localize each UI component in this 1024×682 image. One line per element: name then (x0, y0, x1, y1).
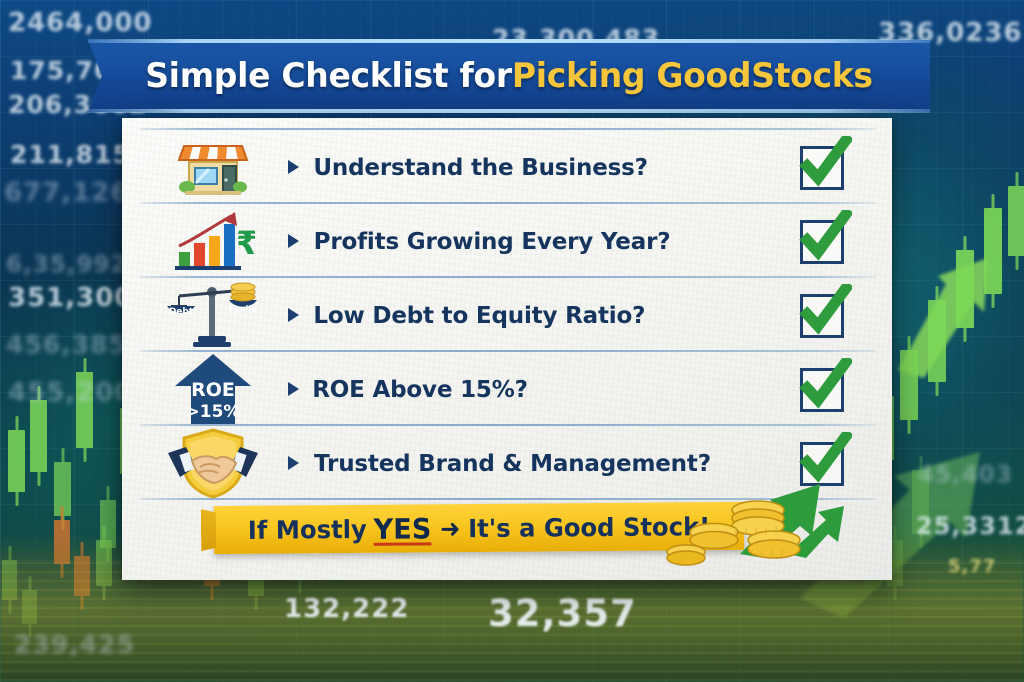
checkbox-roe-above-15[interactable] (796, 362, 850, 416)
row-divider-1 (140, 202, 876, 204)
checklist-row-roe-above-15[interactable]: ROE >15% ROE Above 15%? (138, 354, 878, 424)
background-number: 239,425 (14, 630, 135, 659)
check-icon (796, 136, 852, 192)
infographic-root: 2464,000175,700206,3662211,815677,1266,3… (0, 0, 1024, 682)
check-icon (796, 358, 852, 414)
roe-label: ROE (191, 379, 235, 401)
checklist-label: ROE Above 15%? (312, 375, 528, 403)
handshake-shield-icon (138, 428, 288, 498)
checklist-card: Understand the Business? (122, 118, 892, 580)
roe-threshold-label: >15% (186, 402, 241, 422)
checklist-row-profits-growing[interactable]: ₹ Profits Growing Every Year? (138, 206, 878, 276)
background-candlestick (956, 250, 974, 328)
checkbox-understand-business[interactable] (796, 140, 850, 194)
checklist-label: Trusted Brand & Management? (314, 449, 711, 477)
row-bullet-icon (288, 308, 299, 322)
background-candlestick (900, 350, 918, 420)
checklist-label: Low Debt to Equity Ratio? (313, 301, 645, 329)
background-number: 455,200 (8, 378, 133, 408)
storefront-icon (138, 132, 288, 202)
row-bullet-icon (288, 160, 299, 174)
background-candlestick (984, 208, 1002, 294)
growth-bar-chart-rupee-icon: ₹ (138, 206, 288, 276)
title-ribbon: Simple Checklist for Picking Good Stocks (88, 40, 930, 112)
conclusion-lead: If Mostly (248, 514, 367, 544)
page-title: Simple Checklist for Picking Good Stocks (101, 40, 918, 112)
background-number: 351,300 (8, 283, 133, 313)
row-divider-2 (140, 276, 876, 278)
footer-banner-row: If Mostly YES ➜ It's a Good Stock! (138, 500, 878, 562)
background-candlestick (8, 430, 25, 492)
checklist-row-low-debt-equity[interactable]: Debt Equity Low Debt to Equity Ratio? (138, 280, 878, 350)
checkbox-profits-growing[interactable] (796, 214, 850, 268)
checklist-row-understand-business[interactable]: Understand the Business? (138, 132, 878, 202)
conclusion-banner: If Mostly YES ➜ It's a Good Stock! (214, 502, 744, 554)
background-number: 45,403 (918, 462, 1013, 488)
conclusion-yes: YES (373, 512, 431, 545)
scale-right-label: Equity (229, 304, 258, 313)
checkbox-low-debt-equity[interactable] (796, 288, 850, 342)
title-part-2: Picking Good (512, 56, 751, 96)
roe-up-arrow-icon: ROE >15% (138, 354, 288, 424)
gold-coins-icon (666, 494, 816, 566)
conclusion-arrow-icon: ➜ (440, 514, 461, 543)
row-divider-top (140, 128, 876, 130)
background-number: 25,3312 (916, 512, 1024, 540)
row-divider-4 (140, 424, 876, 426)
background-candlestick (30, 400, 47, 472)
check-icon (796, 284, 852, 340)
scale-left-label: Debt (169, 307, 194, 317)
checklist-label: Understand the Business? (313, 153, 647, 181)
balance-scale-debt-equity-icon: Debt Equity (138, 280, 288, 350)
background-candlestick (928, 300, 946, 382)
title-part-3: Stocks (751, 56, 873, 96)
row-bullet-icon (288, 234, 299, 248)
conclusion-text: If Mostly YES ➜ It's a Good Stock! (222, 502, 736, 554)
background-number: 132,222 (284, 594, 409, 624)
background-number: 211,815 (10, 140, 131, 169)
background-number: 677,126 (4, 178, 129, 208)
background-number: 2464,000 (8, 8, 153, 38)
check-icon (796, 210, 852, 266)
title-part-1: Simple Checklist for (145, 56, 512, 96)
checklist-label: Profits Growing Every Year? (314, 227, 671, 255)
background-candlestick (1008, 186, 1024, 256)
background-number: 5,77 (948, 556, 996, 577)
background-number: 32,357 (488, 592, 637, 635)
svg-text:₹: ₹ (236, 224, 255, 262)
checklist-card-inner: Understand the Business? (138, 128, 878, 570)
row-bullet-icon (288, 382, 299, 396)
row-bullet-icon (288, 456, 299, 470)
